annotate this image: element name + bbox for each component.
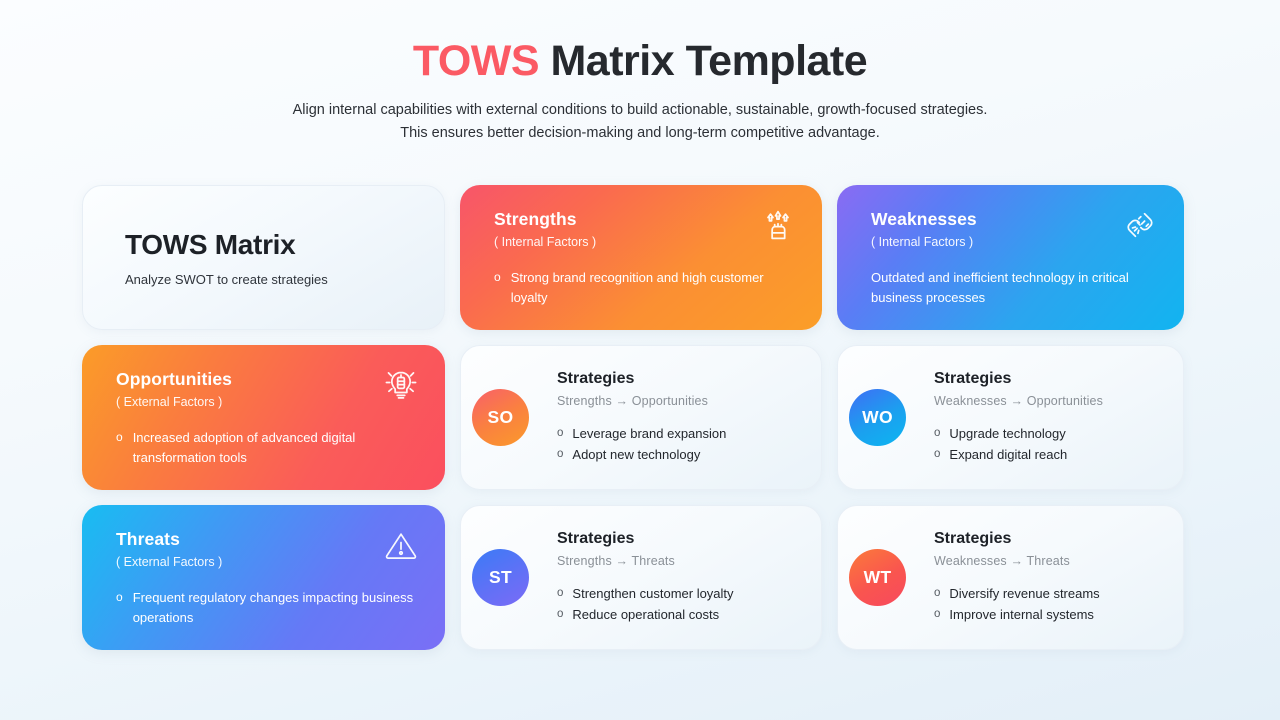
wo-strategy-card: WO Strategies Weaknesses → Opportunities… — [837, 345, 1184, 490]
so-strategy-title: Strategies — [557, 370, 726, 388]
so-strategy-flow: Strengths → Opportunities — [557, 394, 726, 408]
st-strategy-list: oStrengthen customer loyalty oReduce ope… — [557, 584, 734, 625]
list-item: oLeverage brand expansion — [557, 424, 726, 444]
threats-text: Frequent regulatory changes impacting bu… — [133, 588, 419, 629]
weaknesses-card: Weaknesses ( Internal Factors ) Outdated… — [837, 185, 1184, 330]
list-bullet: o — [557, 584, 563, 604]
warning-triangle-icon — [381, 525, 421, 565]
list-text: Strengthen customer loyalty — [572, 584, 733, 604]
intro-card-subtitle: Analyze SWOT to create strategies — [125, 272, 444, 287]
threats-bullet: o — [116, 588, 123, 629]
threats-factor: ( External Factors ) — [116, 555, 419, 569]
list-text: Expand digital reach — [949, 445, 1067, 465]
so-strategy-card: SO Strategies Strengths → Opportunities … — [460, 345, 822, 490]
opportunities-heading: Opportunities — [116, 369, 419, 390]
wo-strategy-list: oUpgrade technology oExpand digital reac… — [934, 424, 1103, 465]
list-bullet: o — [934, 605, 940, 625]
wo-strategy-flow: Weaknesses → Opportunities — [934, 394, 1103, 408]
list-item: oUpgrade technology — [934, 424, 1103, 444]
threats-body: o Frequent regulatory changes impacting … — [116, 588, 419, 629]
wt-strategy-flow: Weaknesses → Threats — [934, 554, 1100, 568]
st-strategy-body: Strategies Strengths → Threats oStrength… — [529, 530, 734, 625]
list-bullet: o — [557, 605, 563, 625]
intro-card-title: TOWS Matrix — [125, 229, 444, 261]
broken-chain-icon — [1120, 205, 1160, 245]
cell-opportunities: Opportunities ( External Factors ) o Inc… — [82, 345, 445, 490]
st-strategy-card: ST Strategies Strengths → Threats oStren… — [460, 505, 822, 650]
wo-strategy-body: Strategies Weaknesses → Opportunities oU… — [906, 370, 1103, 465]
so-strategy-body: Strategies Strengths → Opportunities oLe… — [529, 370, 726, 465]
list-item: oAdopt new technology — [557, 445, 726, 465]
strengths-bullet: o — [494, 268, 501, 309]
list-item: oReduce operational costs — [557, 605, 734, 625]
cell-wo-strategy: WO Strategies Weaknesses → Opportunities… — [822, 345, 1184, 490]
weaknesses-body: Outdated and inefficient technology in c… — [871, 268, 1158, 309]
st-badge: ST — [472, 549, 529, 606]
strengths-factor: ( Internal Factors ) — [494, 235, 796, 249]
wo-strategy-title: Strategies — [934, 370, 1103, 388]
list-item: oStrengthen customer loyalty — [557, 584, 734, 604]
page-subtitle-line1: Align internal capabilities with externa… — [0, 99, 1280, 122]
cell-so-strategy: SO Strategies Strengths → Opportunities … — [445, 345, 822, 490]
weaknesses-heading: Weaknesses — [871, 209, 1158, 230]
so-strategy-list: oLeverage brand expansion oAdopt new tec… — [557, 424, 726, 465]
opportunities-text: Increased adoption of advanced digital t… — [133, 428, 419, 469]
page-title: TOWS Matrix Template — [0, 36, 1280, 87]
strengths-heading: Strengths — [494, 209, 796, 230]
wt-badge: WT — [849, 549, 906, 606]
list-text: Leverage brand expansion — [572, 424, 726, 444]
weaknesses-factor: ( Internal Factors ) — [871, 235, 1158, 249]
cell-strengths: Strengths ( Internal Factors ) o Strong … — [445, 185, 822, 330]
strengths-text: Strong brand recognition and high custom… — [511, 268, 796, 309]
st-strategy-title: Strategies — [557, 530, 734, 548]
opportunities-card: Opportunities ( External Factors ) o Inc… — [82, 345, 445, 490]
page-subtitle-line2: This ensures better decision-making and … — [0, 122, 1280, 145]
strengths-body: o Strong brand recognition and high cust… — [494, 268, 796, 309]
list-bullet: o — [557, 445, 563, 465]
list-text: Adopt new technology — [572, 445, 700, 465]
so-badge: SO — [472, 389, 529, 446]
page-title-accent: TOWS — [413, 37, 539, 85]
list-text: Reduce operational costs — [572, 605, 719, 625]
threats-card: Threats ( External Factors ) o Frequent … — [82, 505, 445, 650]
list-text: Upgrade technology — [949, 424, 1065, 444]
cell-weaknesses: Weaknesses ( Internal Factors ) Outdated… — [822, 185, 1184, 330]
cell-wt-strategy: WT Strategies Weaknesses → Threats oDive… — [822, 505, 1184, 650]
list-bullet: o — [934, 445, 940, 465]
opportunities-body: o Increased adoption of advanced digital… — [116, 428, 419, 469]
cell-intro: TOWS Matrix Analyze SWOT to create strat… — [82, 185, 445, 330]
strengths-card: Strengths ( Internal Factors ) o Strong … — [460, 185, 822, 330]
fist-strength-icon — [758, 205, 798, 245]
list-item: oImprove internal systems — [934, 605, 1100, 625]
page-subtitle: Align internal capabilities with externa… — [0, 99, 1280, 145]
cell-st-strategy: ST Strategies Strengths → Threats oStren… — [445, 505, 822, 650]
list-bullet: o — [557, 424, 563, 444]
page-header: TOWS Matrix Template Align internal capa… — [0, 0, 1280, 145]
intro-card: TOWS Matrix Analyze SWOT to create strat… — [82, 185, 445, 330]
opportunities-bullet: o — [116, 428, 123, 469]
tows-matrix-grid: TOWS Matrix Analyze SWOT to create strat… — [82, 185, 1198, 650]
wt-strategy-card: WT Strategies Weaknesses → Threats oDive… — [837, 505, 1184, 650]
list-text: Improve internal systems — [949, 605, 1094, 625]
weaknesses-text: Outdated and inefficient technology in c… — [871, 268, 1158, 309]
opportunities-factor: ( External Factors ) — [116, 395, 419, 409]
wt-strategy-title: Strategies — [934, 530, 1100, 548]
list-bullet: o — [934, 424, 940, 444]
st-strategy-flow: Strengths → Threats — [557, 554, 734, 568]
threats-heading: Threats — [116, 529, 419, 550]
page-title-rest: Matrix Template — [539, 37, 867, 85]
list-text: Diversify revenue streams — [949, 584, 1099, 604]
list-item: oDiversify revenue streams — [934, 584, 1100, 604]
cell-threats: Threats ( External Factors ) o Frequent … — [82, 505, 445, 650]
wt-strategy-body: Strategies Weaknesses → Threats oDiversi… — [906, 530, 1100, 625]
list-item: oExpand digital reach — [934, 445, 1103, 465]
wt-strategy-list: oDiversify revenue streams oImprove inte… — [934, 584, 1100, 625]
wo-badge: WO — [849, 389, 906, 446]
list-bullet: o — [934, 584, 940, 604]
lightbulb-icon — [381, 365, 421, 405]
